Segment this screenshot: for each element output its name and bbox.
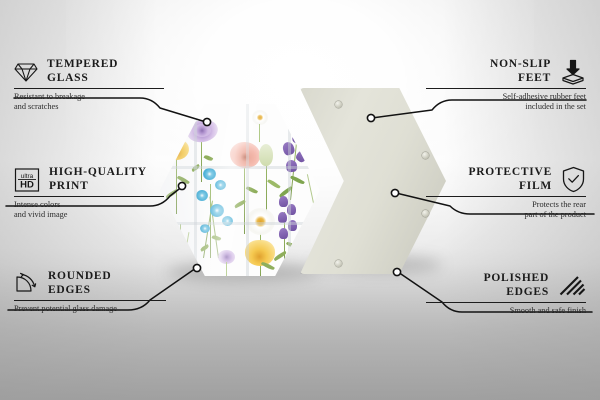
divider bbox=[426, 302, 586, 303]
rubber-foot bbox=[335, 260, 342, 267]
rubber-foot bbox=[335, 101, 342, 108]
rubber-foot bbox=[422, 152, 429, 159]
shield-check-icon bbox=[561, 166, 586, 193]
ultra-hd-icon: ultra HD bbox=[14, 167, 40, 193]
feature-polished-edges: POLISHED EDGES Smooth and safe finish bbox=[426, 272, 586, 316]
rounded-corner-icon bbox=[14, 272, 39, 296]
feature-description: Self-adhesive rubber feet included in th… bbox=[426, 92, 586, 112]
feature-protective-film: PROTECTIVE FILM Protects the rear part o… bbox=[426, 166, 586, 220]
feature-description: Smooth and safe finish bbox=[426, 306, 586, 316]
feature-title: POLISHED EDGES bbox=[484, 272, 549, 299]
feature-rounded-edges: ROUNDED EDGES Prevent potential glass da… bbox=[14, 270, 166, 314]
ultra-hd-icon-bottom: HD bbox=[20, 179, 34, 190]
feature-title: PROTECTIVE FILM bbox=[468, 166, 552, 193]
divider bbox=[14, 196, 164, 197]
divider bbox=[426, 88, 586, 89]
rear-hexagon-panel bbox=[300, 88, 446, 274]
feature-non-slip-feet: NON-SLIP FEET Self-adhesive rubber feet … bbox=[426, 58, 586, 112]
feature-description: Protects the rear part of the product bbox=[426, 200, 586, 220]
feature-title: NON-SLIP FEET bbox=[490, 58, 551, 85]
diamond-icon bbox=[14, 61, 38, 83]
press-down-pad-icon bbox=[560, 59, 586, 85]
feature-title: TEMPERED GLASS bbox=[47, 58, 118, 85]
feature-description: Prevent potential glass damage bbox=[14, 304, 166, 314]
feature-title: HIGH-QUALITY PRINT bbox=[49, 166, 147, 193]
divider bbox=[14, 88, 164, 89]
divider bbox=[426, 196, 586, 197]
feature-description: Resistant to breakage and scratches bbox=[14, 92, 164, 112]
feature-tempered-glass: TEMPERED GLASS Resistant to breakage and… bbox=[14, 58, 164, 112]
floral-print bbox=[160, 104, 320, 276]
feature-high-quality-print: ultra HD HIGH-QUALITY PRINT Intense colo… bbox=[14, 166, 164, 220]
feature-description: Intense colors and vivid image bbox=[14, 200, 164, 220]
hatched-triangle-icon bbox=[558, 275, 586, 297]
feature-title: ROUNDED EDGES bbox=[48, 270, 111, 297]
printed-glass-hexagon bbox=[160, 104, 320, 276]
divider bbox=[14, 300, 166, 301]
